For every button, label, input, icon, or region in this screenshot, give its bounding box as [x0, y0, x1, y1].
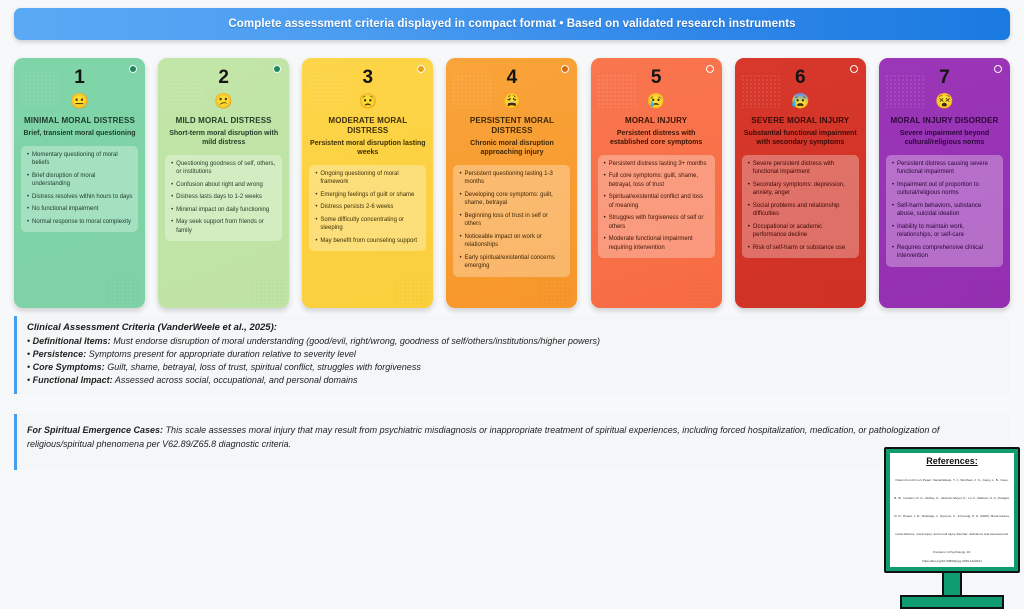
crying-face-emoji: 😢 [647, 94, 666, 109]
severity-criteria-box: Persistent distress lasting 3+ monthsFul… [598, 155, 715, 259]
severity-card-title: MORAL INJURY [625, 116, 687, 126]
severity-card-2[interactable]: 2😕MILD MORAL DISTRESSShort-term moral di… [158, 58, 289, 308]
spiritual-emergence-body: This scale assesses moral injury that ma… [27, 425, 939, 449]
criteria-item: Self-harm behaviors, substance abuse, su… [892, 202, 998, 219]
clinical-criteria-text: Must endorse disruption of moral underst… [113, 336, 600, 346]
criteria-item: Brief disruption of moral understanding [27, 172, 133, 189]
clinical-criteria-text: Symptoms present for appropriate duratio… [89, 349, 356, 359]
severity-card-title: SEVERE MORAL INJURY [751, 116, 849, 126]
clinical-assessment-panel: Clinical Assessment Criteria (VanderWeel… [14, 316, 1010, 394]
criteria-item: May seek support from friends or family [171, 218, 277, 235]
severity-card-7[interactable]: 7😵MORAL INJURY DISORDERSevere impairment… [879, 58, 1010, 308]
clinical-criteria-item: • Functional Impact: Assessed across soc… [27, 374, 1000, 387]
severity-card-subtitle: Severe impairment beyond cultural/religi… [886, 130, 1003, 148]
criteria-item: Requires comprehensive clinical interven… [892, 244, 998, 261]
severity-indicator-dot [850, 65, 858, 73]
severity-criteria-box: Persistent questioning lasting 1-3 month… [453, 165, 570, 277]
severity-card-title: MINIMAL MORAL DISTRESS [24, 116, 135, 126]
criteria-item: Minimal impact on daily functioning [171, 206, 277, 215]
criteria-item: Distress lasts days to 1-2 weeks [171, 193, 277, 202]
criteria-item: Noticeable impact on work or relationshi… [459, 233, 565, 250]
severity-indicator-dot [994, 65, 1002, 73]
references-inner: References: Drawn from Dr Lu's Paper: Va… [889, 452, 1015, 568]
neutral-face-emoji: 😐 [70, 94, 89, 109]
criteria-item: Normal response to moral complexity [27, 218, 133, 227]
severity-card-title: MODERATE MORAL DISTRESS [309, 116, 426, 136]
criteria-item: Impairment out of proportion to cultural… [892, 181, 998, 198]
severity-card-subtitle: Short-term moral disruption with mild di… [165, 130, 282, 148]
criteria-item: Persistent distress lasting 3+ months [604, 160, 710, 169]
criteria-item: Distress persists 2-6 weeks [315, 203, 421, 212]
severity-level-number: 6 [795, 68, 806, 87]
clinical-criteria-label: Core Symptoms: [33, 362, 105, 372]
clinical-criteria-text: Assessed across social, occupational, an… [115, 375, 358, 385]
banner-text: Complete assessment criteria displayed i… [228, 18, 795, 30]
clinical-criteria-list: • Definitional Items: Must endorse disru… [27, 335, 1000, 387]
criteria-item: Distress resolves within hours to days [27, 193, 133, 202]
criteria-item: Secondary symptoms: depression, anxiety,… [748, 181, 854, 198]
severity-card-1[interactable]: 1😐MINIMAL MORAL DISTRESSBrief, transient… [14, 58, 145, 308]
sign-post [942, 573, 962, 595]
severity-card-subtitle: Brief, transient moral questioning [23, 130, 135, 139]
severity-card-subtitle: Persistent moral disruption lasting week… [309, 140, 426, 158]
header-banner: Complete assessment criteria displayed i… [14, 8, 1010, 40]
criteria-item: Risk of self-harm or substance use [748, 244, 854, 253]
spiritual-emergence-text: For Spiritual Emergence Cases: This scal… [27, 424, 1000, 451]
criteria-item: No functional impairment [27, 205, 133, 214]
clinical-criteria-text: Guilt, shame, betrayal, loss of trust, s… [107, 362, 421, 372]
severity-level-number: 7 [939, 68, 950, 87]
criteria-item: Persistent distress causing severe funct… [892, 160, 998, 177]
clinical-criteria-label: Functional Impact: [33, 375, 113, 385]
severity-level-number: 2 [218, 68, 229, 87]
criteria-item: Persistent questioning lasting 1-3 month… [459, 170, 565, 187]
severity-indicator-dot [417, 65, 425, 73]
severity-card-title: MILD MORAL DISTRESS [176, 116, 272, 126]
criteria-item: Struggles with forgiveness of self or ot… [604, 214, 710, 231]
worried-face-emoji: 😟 [358, 94, 377, 109]
severity-level-number: 1 [74, 68, 85, 87]
severity-card-row: 1😐MINIMAL MORAL DISTRESSBrief, transient… [0, 58, 1024, 308]
severity-level-number: 3 [363, 68, 374, 87]
severity-card-subtitle: Persistent distress with established cor… [598, 130, 715, 148]
criteria-item: Occupational or academic performance dec… [748, 223, 854, 240]
clinical-criteria-item: • Persistence: Symptoms present for appr… [27, 348, 1000, 361]
criteria-item: Emerging feelings of guilt or shame [315, 191, 421, 200]
criteria-item: Beginning loss of trust in self or other… [459, 212, 565, 229]
criteria-item: Momentary questioning of moral beliefs [27, 151, 133, 168]
criteria-item: Early spiritual/existential concerns eme… [459, 254, 565, 271]
criteria-item: Severe persistent distress with function… [748, 160, 854, 177]
references-citation: Drawn from Dr Lu's Paper: VanderWeele, T… [894, 478, 1010, 554]
references-doi-link[interactable]: https://doi.org/10.3389/fpsyg.2025.14224… [894, 559, 1010, 563]
clinical-panel-title: Clinical Assessment Criteria (VanderWeel… [27, 322, 1000, 333]
clinical-criteria-label: Definitional Items: [33, 336, 111, 346]
criteria-item: Social problems and relationship difficu… [748, 202, 854, 219]
clinical-criteria-item: • Definitional Items: Must endorse disru… [27, 335, 1000, 348]
anxious-face-with-sweat-emoji: 😰 [791, 94, 810, 109]
sign-base [900, 595, 1004, 609]
criteria-item: Developing core symptoms: guilt, shame, … [459, 191, 565, 208]
spiritual-emergence-label: For Spiritual Emergence Cases: [27, 425, 163, 435]
severity-card-subtitle: Substantial functional impairment with s… [742, 130, 859, 148]
criteria-item: May benefit from counseling support [315, 237, 421, 246]
severity-indicator-dot [706, 65, 714, 73]
criteria-item: Inability to maintain work, relationship… [892, 223, 998, 240]
references-heading: References: [894, 456, 1010, 466]
criteria-item: Moderate functional impairment requiring… [604, 235, 710, 252]
severity-card-title: MORAL INJURY DISORDER [890, 116, 998, 126]
severity-level-number: 5 [651, 68, 662, 87]
spiritual-emergence-panel: For Spiritual Emergence Cases: This scal… [14, 414, 1010, 470]
severity-criteria-box: Persistent distress causing severe funct… [886, 155, 1003, 267]
severity-criteria-box: Severe persistent distress with function… [742, 155, 859, 259]
dizzy-face-emoji: 😵 [935, 94, 954, 109]
severity-card-5[interactable]: 5😢MORAL INJURYPersistent distress with e… [591, 58, 722, 308]
severity-card-3[interactable]: 3😟MODERATE MORAL DISTRESSPersistent mora… [302, 58, 433, 308]
severity-level-number: 4 [507, 68, 518, 87]
criteria-item: Questioning goodness of self, others, or… [171, 160, 277, 177]
weary-face-emoji: 😩 [503, 94, 522, 109]
criteria-item: Some difficulty concentrating or sleepin… [315, 216, 421, 233]
clinical-criteria-label: Persistence: [33, 349, 87, 359]
severity-indicator-dot [273, 65, 281, 73]
criteria-item: Confusion about right and wrong [171, 181, 277, 190]
references-board: References: Drawn from Dr Lu's Paper: Va… [884, 447, 1020, 573]
severity-indicator-dot [561, 65, 569, 73]
criteria-item: Full core symptoms: guilt, shame, betray… [604, 172, 710, 189]
severity-card-subtitle: Chronic moral disruption approaching inj… [453, 140, 570, 158]
severity-criteria-box: Momentary questioning of moral beliefsBr… [21, 146, 138, 233]
severity-card-title: PERSISTENT MORAL DISTRESS [453, 116, 570, 136]
criteria-item: Ongoing questioning of moral framework [315, 170, 421, 187]
references-sign: References: Drawn from Dr Lu's Paper: Va… [884, 447, 1020, 609]
severity-card-6[interactable]: 6😰SEVERE MORAL INJURYSubstantial functio… [735, 58, 866, 308]
criteria-item: Spiritual/existential conflict and loss … [604, 193, 710, 210]
severity-criteria-box: Ongoing questioning of moral frameworkEm… [309, 165, 426, 252]
confused-face-emoji: 😕 [214, 94, 233, 109]
severity-criteria-box: Questioning goodness of self, others, or… [165, 155, 282, 242]
severity-indicator-dot [129, 65, 137, 73]
severity-card-4[interactable]: 4😩PERSISTENT MORAL DISTRESSChronic moral… [446, 58, 577, 308]
clinical-criteria-item: • Core Symptoms: Guilt, shame, betrayal,… [27, 361, 1000, 374]
